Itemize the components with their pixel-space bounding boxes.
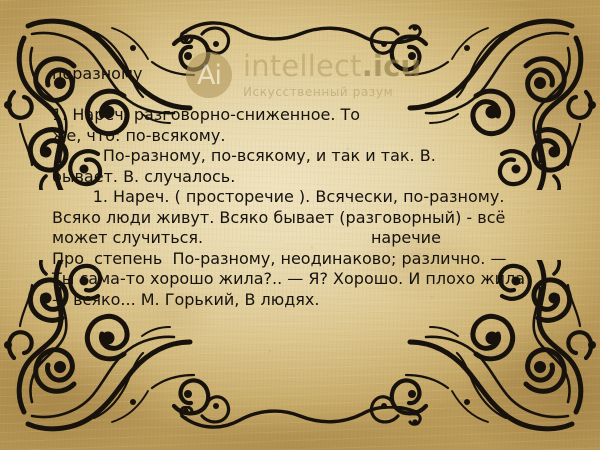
dictionary-entry: поразному 1. Нареч. разговорно-сниженное… <box>52 64 562 310</box>
headword: поразному <box>52 64 562 84</box>
parchment-page: Ai intellect.icu Искусственный разум пор… <box>0 0 600 450</box>
entry-body: 1. Нареч. разговорно-сниженное. То же, ч… <box>52 105 562 310</box>
